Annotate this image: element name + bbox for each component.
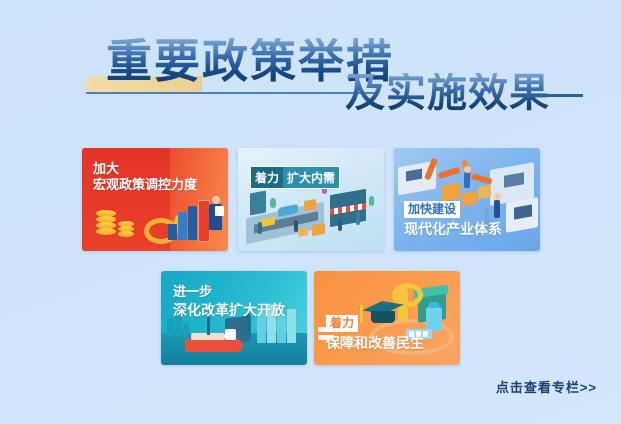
- card-macro-policy-line1: 加大: [93, 161, 197, 177]
- title-right-rule: [525, 94, 583, 97]
- card-expand-demand-label: 着力 扩大内需: [250, 166, 340, 189]
- card-macro-policy[interactable]: 加大 宏观政策调控力度: [82, 148, 228, 251]
- chart-bar: [188, 206, 197, 240]
- card-macro-policy-line2: 宏观政策调控力度: [93, 177, 197, 193]
- cargo-ship-hull: [185, 339, 243, 352]
- robot-arm: [438, 167, 461, 180]
- card-peoples-livelihood-line1: 着力: [326, 315, 358, 332]
- card-macro-policy-label: 加大 宏观政策调控力度: [93, 161, 197, 193]
- medicine-bottle-icon: [426, 307, 442, 331]
- tree-icon: [270, 198, 276, 208]
- card-peoples-livelihood[interactable]: 着力 保障和改善民生: [314, 271, 460, 365]
- coin-icon: [96, 228, 116, 235]
- cargo-ship-bridge: [225, 329, 236, 340]
- card-modern-industry-label: 加快建设 现代化产业体系: [404, 201, 502, 238]
- card-reform-opening[interactable]: 进一步 深化改革扩大开放: [161, 271, 307, 365]
- card-reform-opening-line2: 深化改革扩大开放: [173, 302, 285, 319]
- clipboard-icon: [215, 206, 224, 216]
- card-peoples-livelihood-line2: 保障和改善民生: [326, 335, 424, 352]
- card-peoples-livelihood-label: 着力 保障和改善民生: [326, 315, 424, 352]
- worker-icon: [464, 166, 471, 173]
- person-icon: [338, 218, 342, 231]
- title-underline-rule: [86, 92, 378, 94]
- tree-icon: [369, 196, 374, 206]
- worker-icon: [494, 193, 501, 200]
- crane-mast: [207, 317, 210, 335]
- medicine-bottle-cap: [429, 302, 439, 308]
- skyline-building: [183, 323, 189, 337]
- card-expand-demand-line1: 着力: [251, 167, 283, 188]
- card-reform-opening-line1: 进一步: [173, 284, 285, 300]
- page-title-sub: 及实施效果: [345, 73, 550, 113]
- skyline-building: [167, 319, 174, 337]
- policy-measures-banner: 重要政策举措 及实施效果 加大 宏观政策调控力度: [0, 0, 621, 424]
- worker-icon: [464, 172, 470, 188]
- parcel-box: [304, 199, 316, 211]
- card-expand-demand-line2: 扩大内需: [283, 167, 339, 188]
- card-reform-opening-label: 进一步 深化改革扩大开放: [173, 284, 285, 319]
- view-column-link[interactable]: 点击查看专栏>>: [496, 377, 597, 396]
- person-icon: [258, 222, 262, 234]
- title-block: 重要政策举措 及实施效果: [0, 0, 621, 140]
- person-icon: [356, 212, 360, 225]
- skyline-building: [277, 315, 286, 343]
- parcel-box: [298, 227, 308, 237]
- chart-bar: [178, 212, 187, 240]
- kiosk-building: [250, 191, 266, 216]
- parcel-box: [312, 223, 325, 236]
- card-modern-industry-line2: 现代化产业体系: [404, 221, 502, 238]
- crate-box: [478, 185, 491, 199]
- card-expand-demand[interactable]: 着力 扩大内需: [238, 148, 384, 251]
- person-icon: [294, 220, 298, 232]
- chart-bar: [168, 224, 177, 240]
- coin-icon: [118, 231, 134, 237]
- crate-box: [442, 182, 460, 201]
- card-modern-industry-line1: 加快建设: [404, 201, 460, 218]
- person-icon: [212, 196, 220, 204]
- key-icon: [392, 283, 423, 307]
- skyline-building: [287, 309, 296, 343]
- card-modern-industry[interactable]: 加快建设 现代化产业体系: [394, 148, 540, 251]
